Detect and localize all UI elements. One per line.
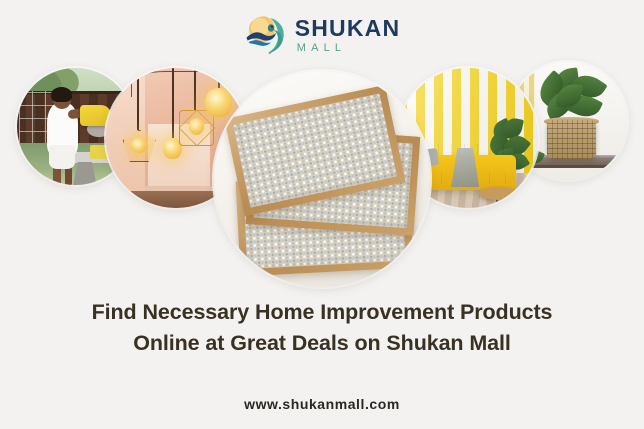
headline-line-2: Online at Great Deals on Shukan Mall xyxy=(0,328,644,359)
headline-line-1: Find Necessary Home Improvement Products xyxy=(92,300,553,324)
promo-banner: SHUKAN MALL xyxy=(0,0,644,429)
gallery-image-decorative-trays[interactable] xyxy=(214,71,430,287)
image-gallery xyxy=(0,0,644,300)
website-url[interactable]: www.shukanmall.com xyxy=(0,396,644,412)
headline: Find Necessary Home Improvement Products… xyxy=(0,297,644,358)
